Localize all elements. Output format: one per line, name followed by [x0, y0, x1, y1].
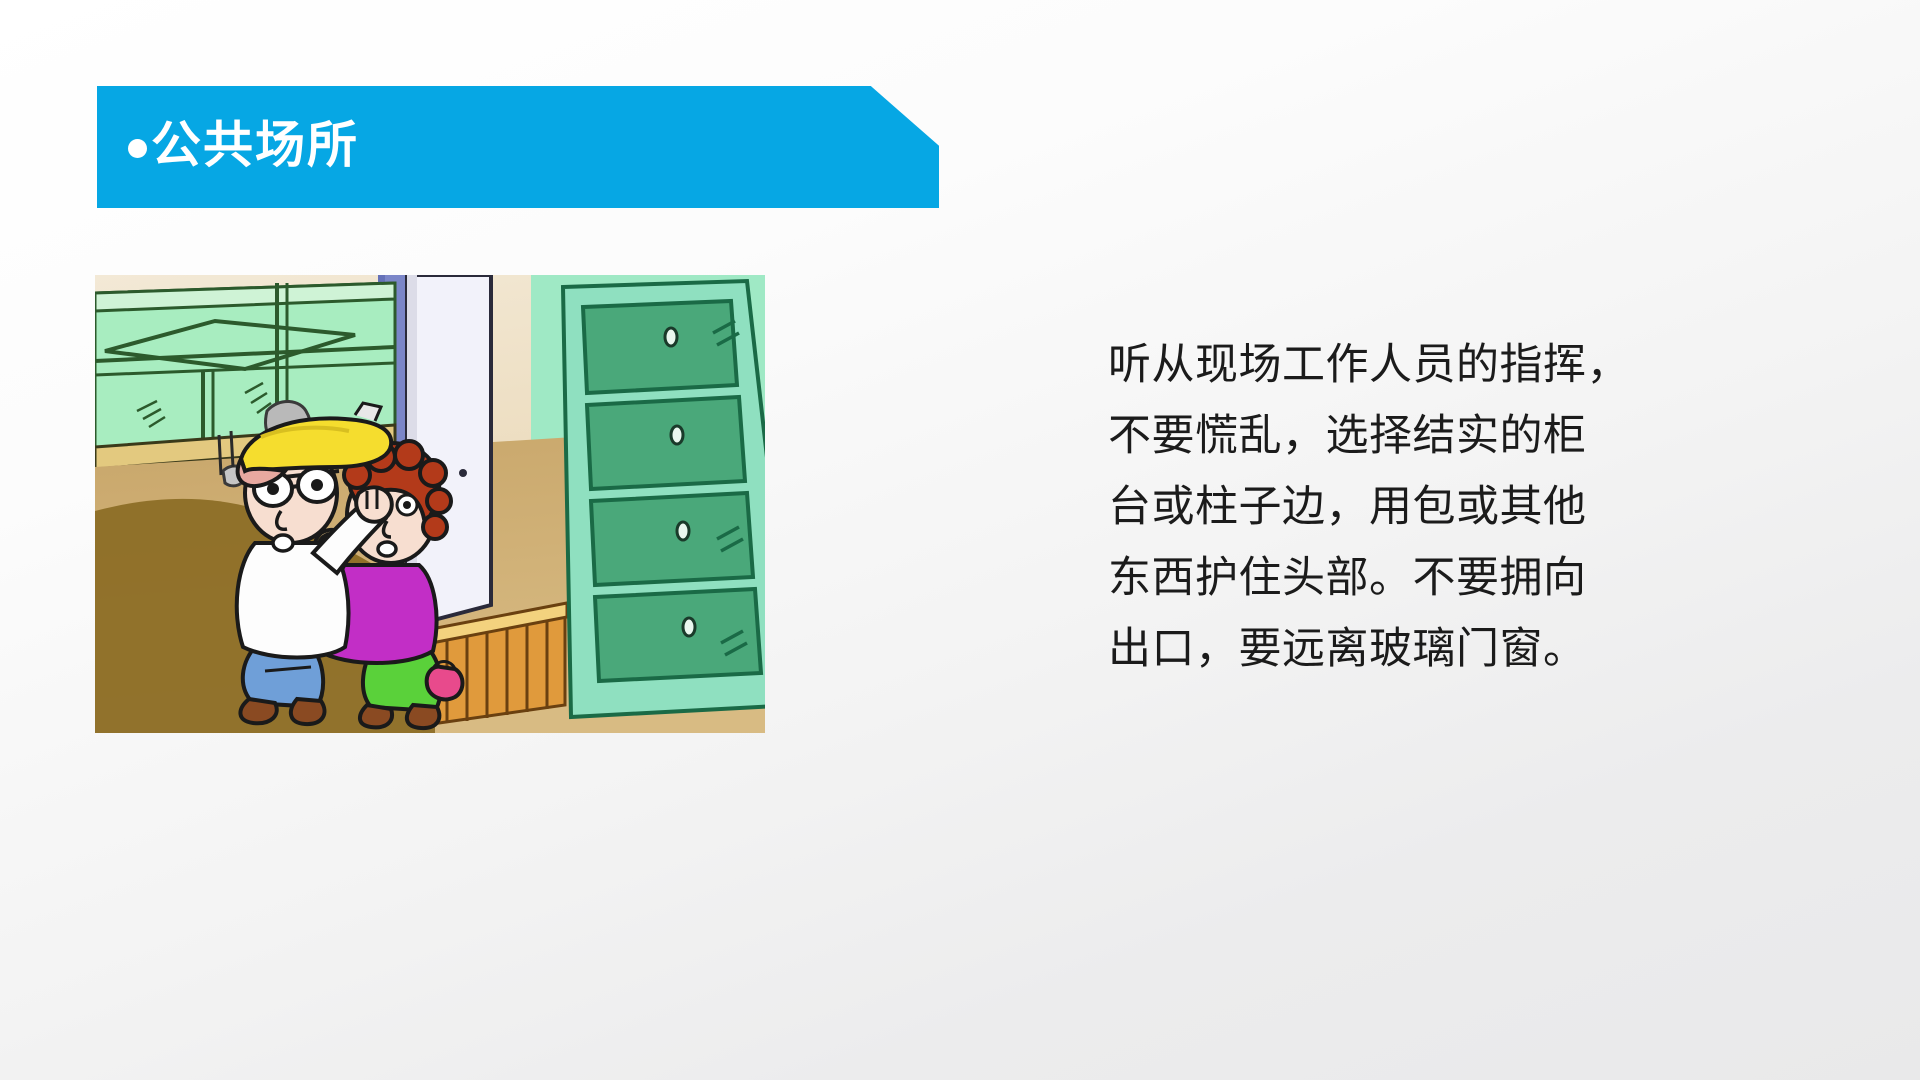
bullet-icon	[128, 139, 147, 158]
slide-canvas: 公共场所	[0, 0, 1920, 1080]
section-title-inner: 公共场所	[97, 120, 359, 170]
section-title-label: 公共场所	[151, 120, 359, 170]
body-paragraph: 听从现场工作人员的指挥， 不要慌乱，选择结实的柜 台或柱子边，用包或其他 东西护…	[1108, 330, 1688, 685]
body-line-3: 台或柱子边，用包或其他	[1108, 472, 1688, 543]
woman-purse	[427, 667, 463, 700]
body-line-1: 听从现场工作人员的指挥，	[1108, 330, 1688, 401]
section-title-banner: 公共场所	[97, 86, 939, 208]
illustration-svg	[95, 275, 765, 733]
body-line-4: 东西护住头部。不要拥向	[1108, 543, 1688, 614]
earthquake-public-place-illustration	[95, 275, 765, 733]
body-line-5: 出口，要远离玻璃门窗。	[1108, 614, 1688, 685]
pillar-dot	[459, 469, 467, 477]
green-lockers	[563, 281, 765, 717]
body-line-2: 不要慌乱，选择结实的柜	[1108, 401, 1688, 472]
man-hand	[356, 487, 392, 521]
